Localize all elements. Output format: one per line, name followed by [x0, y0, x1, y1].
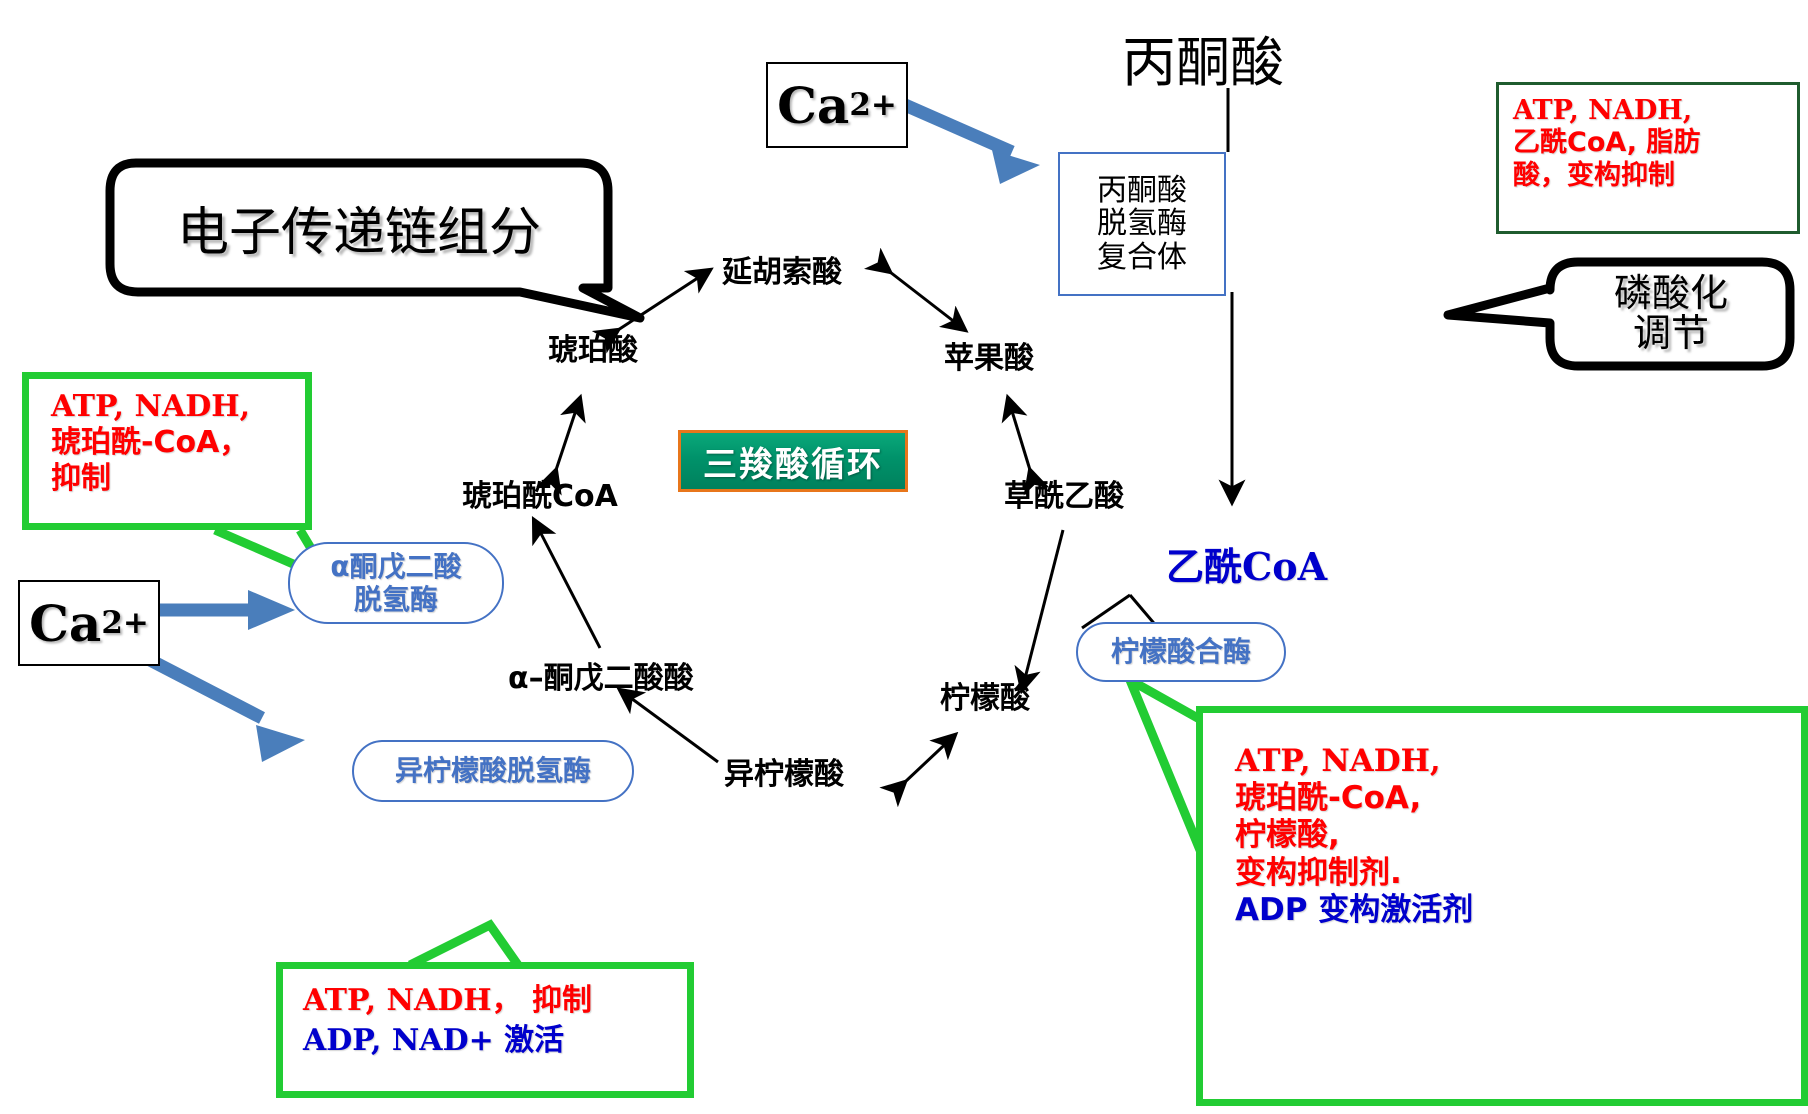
citrate-synthase-label: 柠檬酸合酶	[1111, 635, 1251, 668]
label-malate: 苹果酸	[944, 342, 1034, 375]
regulation-box-idh: ATP, NADH， 抑制 ADP, NAD+ 激活	[276, 962, 694, 1098]
arrow-fumarate-malate	[890, 272, 965, 330]
ca-label-top: Ca	[777, 76, 849, 135]
ca-charge-left: 2+	[101, 605, 149, 641]
idh-reg-line2-text: ADP, NAD+ 激活	[303, 1023, 564, 1058]
idh-reg-line1-text: ATP, NADH， 抑制	[303, 983, 592, 1018]
idh-reg-line1: ATP, NADH， 抑制	[303, 983, 687, 1019]
ca-arrow-left-lower	[150, 660, 262, 718]
arrow-akg-to-succinylcoa	[534, 520, 600, 648]
pdh-line3: 复合体	[1097, 241, 1187, 275]
akgdh-line1: α酮戊二酸	[330, 550, 461, 583]
arrow-succinate-fumarate	[618, 270, 710, 330]
akgdh-reg-line3: 抑制	[51, 461, 305, 497]
ca-arrow-left-lower-head	[256, 725, 305, 762]
label-acetyl-coa: 乙酰CoA	[1166, 536, 1327, 591]
label-oxaloacetate: 草酰乙酸	[1004, 480, 1124, 513]
akgdh-line2: 脱氢酶	[354, 583, 438, 616]
regulation-box-akgdh: ATP, NADH, 琥珀酰-CoA， 抑制	[22, 372, 312, 530]
ca-arrow-top	[905, 105, 1012, 152]
ca-arrow-top-head	[992, 150, 1040, 184]
enzyme-idh[interactable]: 异柠檬酸脱氢酶	[352, 740, 634, 802]
cs-reg-line4: 变构抑制剂.	[1235, 855, 1801, 892]
cs-reg-line2: 琥珀酰-CoA,	[1235, 780, 1801, 817]
enzyme-citrate-synthase[interactable]: 柠檬酸合酶	[1076, 622, 1286, 682]
label-citrate: 柠檬酸	[940, 682, 1030, 715]
ca-ion-box-left: Ca2+	[18, 580, 160, 666]
ca-charge-top: 2+	[849, 87, 897, 123]
label-fumarate: 延胡索酸	[722, 256, 842, 289]
ca-ion-box-top: Ca2+	[766, 62, 908, 148]
akgdh-reg-line2: 琥珀酰-CoA，	[51, 425, 305, 461]
enzyme-pdh-complex[interactable]: 丙酮酸 脱氢酶 复合体	[1058, 152, 1226, 296]
label-succinate: 琥珀酸	[548, 334, 638, 367]
callout-phospho-line1: 磷酸化	[1614, 274, 1728, 314]
pdh-reg-line2: 乙酰CoA, 脂肪	[1513, 127, 1785, 159]
arrow-oxaloacetate-to-citrate	[1022, 530, 1063, 690]
ca-label-left: Ca	[29, 594, 101, 653]
idh-label: 异柠檬酸脱氢酶	[395, 754, 591, 787]
regulation-box-citrate-synthase: ATP, NADH, 琥珀酰-CoA, 柠檬酸, 变构抑制剂. ADP 变构激活…	[1196, 706, 1808, 1106]
arrow-succinylcoa-succinate	[556, 398, 580, 470]
diagram-canvas: 电子传递链组分 磷酸化 调节 丙酮酸 Ca2+ Ca2+ 丙酮酸 脱氢酶 复合体…	[0, 0, 1808, 1114]
regulation-box-pdh: ATP, NADH, 乙酰CoA, 脂肪 酸，变构抑制	[1496, 82, 1800, 234]
cs-reg-line3: 柠檬酸,	[1235, 817, 1801, 854]
green-tail-idh	[410, 925, 518, 965]
callout-phosphorylation-regulation: 磷酸化 调节	[1552, 264, 1790, 364]
cs-reg-line5: ADP 变构激活剂	[1235, 892, 1801, 929]
cs-reg-line1: ATP, NADH,	[1235, 743, 1801, 780]
pdh-reg-line1: ATP, NADH,	[1513, 95, 1785, 127]
pdh-line2: 脱氢酶	[1097, 207, 1187, 241]
ca-arrow-left-upper-head	[248, 590, 295, 630]
label-alpha-ketoglutarate: α–酮戊二酸酸	[508, 662, 694, 695]
pdh-reg-line3: 酸，变构抑制	[1513, 160, 1785, 192]
label-succinyl-coa: 琥珀酰CoA	[462, 480, 618, 513]
pdh-line1: 丙酮酸	[1097, 174, 1187, 208]
akgdh-reg-line1: ATP, NADH,	[51, 389, 305, 425]
label-pyruvate: 丙酮酸	[1122, 18, 1284, 97]
enzyme-akgdh[interactable]: α酮戊二酸 脱氢酶	[288, 542, 504, 624]
arrow-malate-oxaloacetate	[1008, 398, 1030, 470]
callout-phospho-line2: 调节	[1633, 314, 1709, 354]
callout-etc-components: 电子传递链组分	[112, 166, 606, 288]
arrow-isocitrate-citrate	[905, 735, 955, 782]
label-isocitrate: 异柠檬酸	[724, 758, 844, 791]
arrow-isocitrate-to-akg	[620, 690, 718, 762]
idh-reg-line2: ADP, NAD+ 激活	[303, 1023, 687, 1059]
tca-cycle-badge: 三羧酸循环	[678, 430, 908, 492]
